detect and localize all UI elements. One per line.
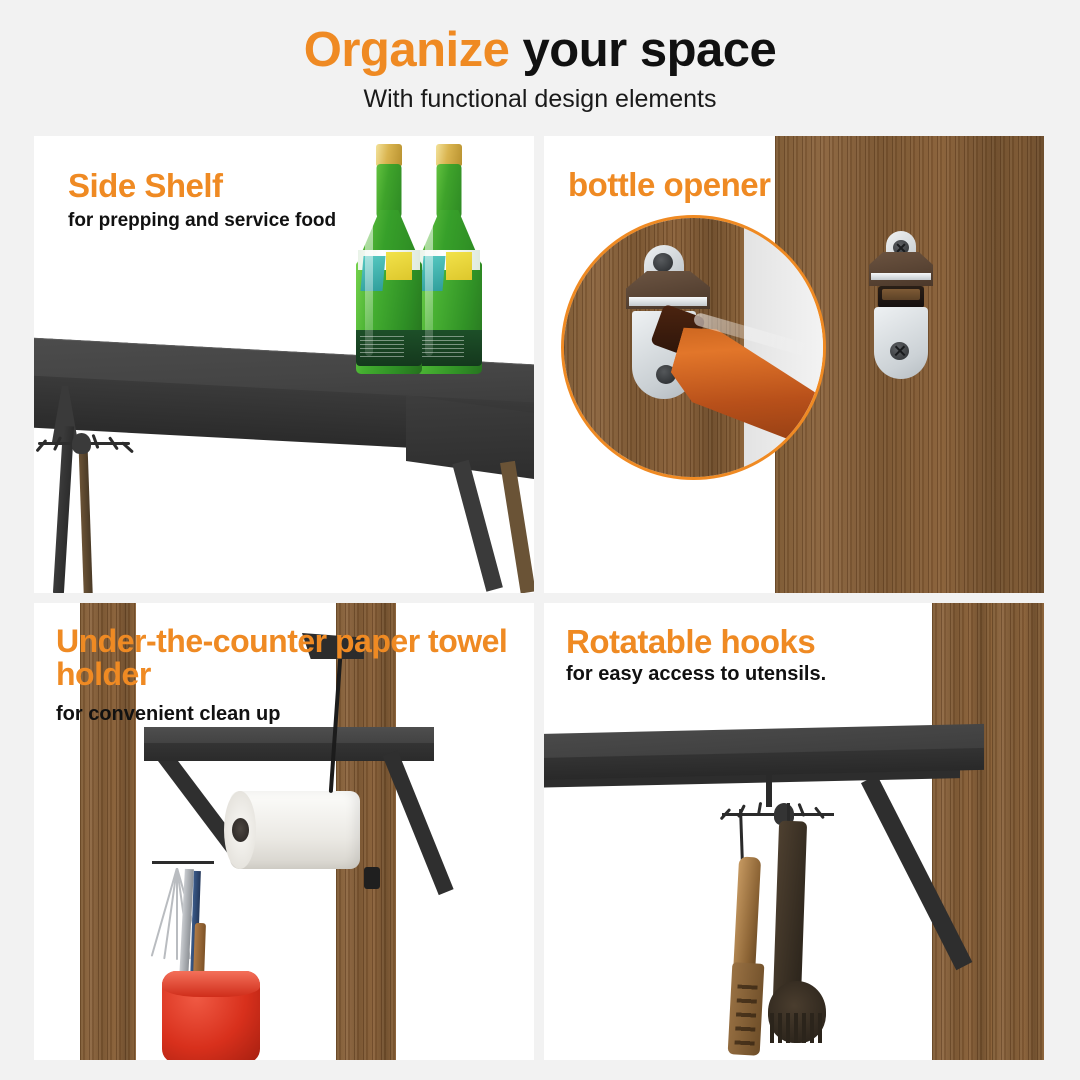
spatula-slots-image (734, 985, 757, 1048)
page-title: Organize your space (0, 26, 1080, 75)
bottle-neck-image (377, 164, 402, 218)
panel-title: bottle opener (568, 168, 771, 202)
screw-icon (890, 342, 909, 360)
hook-pin-icon (35, 439, 47, 452)
panel-paper-towel-holder: Under-the-counter paper towel holder for… (34, 603, 534, 1060)
screw-icon (653, 253, 673, 272)
panel-subtitle: for easy access to utensils. (566, 663, 826, 686)
power-plug-image (364, 867, 380, 889)
panel-caption: Side Shelf for prepping and service food (68, 169, 336, 232)
hook-bar-image (152, 861, 214, 864)
wood-post-back-image (992, 603, 1044, 1060)
opener-mouth-inner-image (882, 289, 920, 300)
spatula-handle-image (733, 857, 761, 978)
panel-subtitle: for prepping and service food (68, 210, 336, 232)
whisk-wire-image (176, 868, 178, 960)
post-shadow-image (1018, 136, 1044, 593)
panel-side-shelf: Side Shelf for prepping and service food (34, 136, 534, 593)
panel-subtitle: for convenient clean up (56, 703, 521, 726)
panel-caption: bottle opener (568, 168, 771, 202)
bottle-neck-image (437, 164, 462, 218)
bottle-opener-image (869, 231, 933, 381)
shelf-leg-wood-image (78, 436, 93, 593)
bottle-highlight-image (365, 216, 373, 356)
shelf-leg-right-image (452, 460, 503, 592)
opener-mouth-image (878, 286, 924, 308)
bottle-cap-image (376, 144, 402, 166)
bottle-highlight-image (425, 216, 433, 356)
paper-towel-roll-core-image (232, 818, 249, 842)
panel-title: Side Shelf (68, 169, 336, 203)
opener-hood-image (869, 252, 933, 286)
red-pan-rim-image (162, 971, 260, 997)
panel-caption: Rotatable hooks for easy access to utens… (566, 625, 826, 686)
panel-rotatable-hooks: Rotatable hooks for easy access to utens… (544, 603, 1044, 1060)
bottle-cap-image (436, 144, 462, 166)
feature-panel-grid: Side Shelf for prepping and service food (34, 136, 1046, 1060)
pasta-server-handle-image (773, 821, 807, 1002)
shelf-leg-right-wood-image (500, 461, 534, 593)
panel-title: Under-the-counter paper towel holder (56, 625, 521, 690)
page-title-rest: your space (509, 23, 776, 77)
panel-bottle-opener: bottle opener (544, 136, 1044, 593)
zoom-inset-circle (561, 215, 826, 480)
green-bottle-image (416, 144, 482, 380)
page-title-accent: Organize (304, 23, 510, 77)
bottle-label-yellow-image (446, 252, 472, 280)
page-header: Organize your space With functional desi… (0, 0, 1080, 114)
rotatable-hooks-image (38, 432, 130, 458)
hook-hub-image (72, 433, 91, 454)
green-bottle-image (356, 144, 422, 380)
page-subtitle: With functional design elements (0, 85, 1080, 114)
panel-caption: Under-the-counter paper towel holder for… (56, 625, 521, 726)
bottle-label-yellow-image (386, 252, 412, 280)
panel-title: Rotatable hooks (566, 625, 826, 659)
wood-post-image (932, 603, 992, 1060)
pasta-server-teeth-image (770, 1013, 826, 1043)
opener-lip-image (871, 273, 931, 280)
